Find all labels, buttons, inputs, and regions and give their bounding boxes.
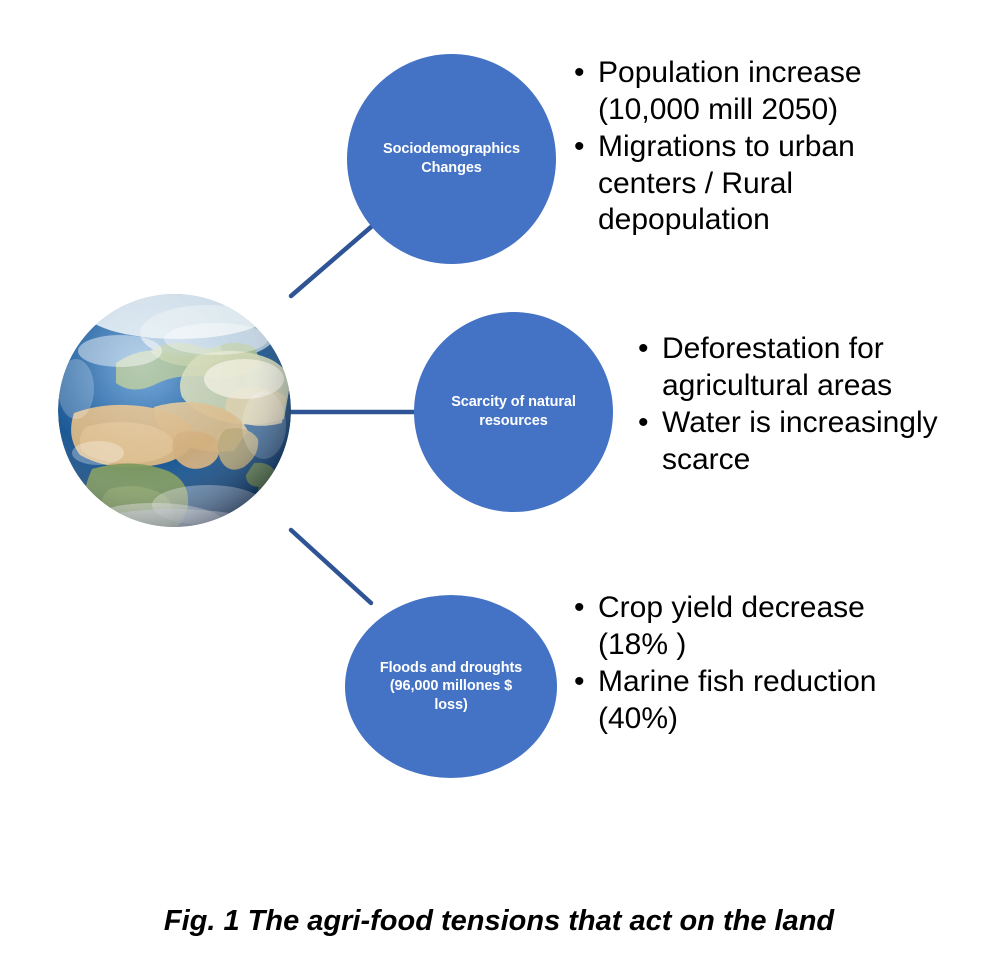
- node-circle-floods-and-droughts[interactable]: Floods and droughts (96,000 millones $ l…: [345, 595, 557, 778]
- connector-line-bottom: [291, 530, 371, 603]
- figure-caption: Fig. 1 The agri-food tensions that act o…: [0, 905, 998, 938]
- list-item: Water is increasingly scarce: [636, 405, 956, 478]
- list-item: Deforestation for agricultural areas: [636, 331, 956, 404]
- list-item: Marine fish reduction (40%): [572, 664, 902, 737]
- node-label-sociodemographic-changes: Sociodemographics Changes: [362, 140, 542, 177]
- bullet-list-scarcity-of-natural-resources: Deforestation for agricultural areas Wat…: [636, 331, 956, 479]
- node-circle-scarcity-of-natural-resources[interactable]: Scarcity of natural resources: [414, 312, 613, 512]
- connector-line-top: [291, 227, 371, 296]
- list-item: Crop yield decrease (18% ): [572, 590, 902, 663]
- node-label-floods-and-droughts: Floods and droughts (96,000 millones $ l…: [360, 659, 542, 715]
- list-item: Migrations to urban centers / Rural depo…: [572, 129, 902, 239]
- earth-globe-icon: [58, 293, 291, 528]
- list-item: Population increase (10,000 mill 2050): [572, 55, 902, 128]
- earth-globe-image: [58, 293, 291, 528]
- bullet-list-sociodemographic-changes: Population increase (10,000 mill 2050) M…: [572, 55, 902, 240]
- figure-container: Sociodemographics Changes Population inc…: [0, 0, 998, 980]
- bullet-list-floods-and-droughts: Crop yield decrease (18% ) Marine fish r…: [572, 590, 902, 738]
- node-circle-sociodemographic-changes[interactable]: Sociodemographics Changes: [347, 54, 556, 264]
- node-label-scarcity-of-natural-resources: Scarcity of natural resources: [428, 393, 599, 430]
